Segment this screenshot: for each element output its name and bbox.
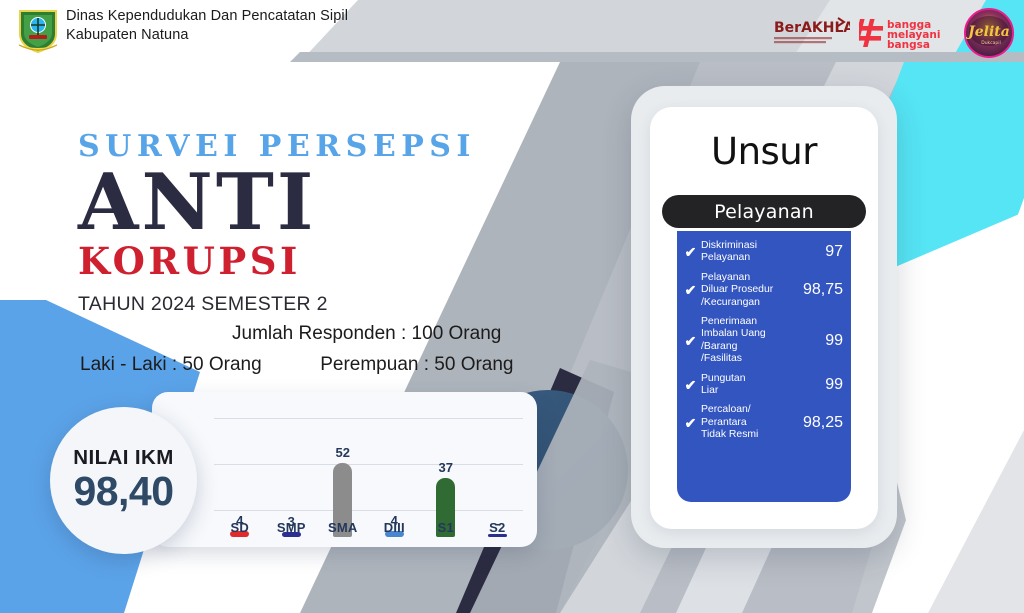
education-bar-chart-card: 4352437- SDSMPSMADIIIS1S2 xyxy=(152,392,537,547)
unsur-item-label: DiskriminasiPelayanan xyxy=(698,240,823,265)
org-name-line2: Kabupaten Natuna xyxy=(66,26,348,45)
unsur-item-label: PelayananDiluar Prosedur/Kecurangan xyxy=(698,272,801,309)
berakhlak-logo-icon: BerAKHLAK xyxy=(774,16,850,50)
title-anti: ANTI xyxy=(78,166,476,241)
unsur-panel-badge: Pelayanan xyxy=(662,195,866,228)
check-icon: ✔ xyxy=(683,378,698,392)
unsur-item-score: 98,75 xyxy=(801,281,843,299)
title-period: TAHUN 2024 SEMESTER 2 xyxy=(78,293,476,316)
unsur-list-item: ✔DiskriminasiPelayanan97 xyxy=(683,240,843,265)
unsur-item-score: 99 xyxy=(823,332,843,350)
unsur-list-item: ✔PungutanLiar99 xyxy=(683,373,843,398)
chart-bar-value: 52 xyxy=(336,445,350,460)
unsur-list-item: ✔Percaloan/PerantaraTidak Resmi98,25 xyxy=(683,404,843,441)
partner-logos: BerAKHLAK bangga melayani bangsa xyxy=(774,8,1014,58)
jelita-logo-icon: Jelita Dukcapil xyxy=(964,8,1014,58)
title-korupsi: KORUPSI xyxy=(78,243,476,280)
unsur-item-label: PungutanLiar xyxy=(698,373,823,398)
infographic-canvas: Dinas Kependudukan Dan Pencatatan Sipil … xyxy=(0,0,1024,613)
chart-x-label: S1 xyxy=(420,520,472,535)
check-icon: ✔ xyxy=(683,416,698,430)
respondent-male: Laki - Laki : 50 Orang xyxy=(80,354,262,375)
ikm-label: NILAI IKM xyxy=(73,446,173,470)
chart-plot-area: 4352437- SDSMPSMADIIIS1S2 xyxy=(214,404,523,537)
unsur-item-label: Percaloan/PerantaraTidak Resmi xyxy=(698,404,801,441)
unsur-list-item: ✔PelayananDiluar Prosedur/Kecurangan98,7… xyxy=(683,272,843,309)
ikm-score-badge: NILAI IKM 98,40 xyxy=(50,407,197,554)
chart-bar-value: 37 xyxy=(439,460,453,475)
check-icon: ✔ xyxy=(683,245,698,259)
main-title-block: SURVEI PERSEPSI ANTI KORUPSI TAHUN 2024 … xyxy=(78,132,476,316)
ikm-value: 98,40 xyxy=(73,468,173,515)
chart-x-axis-labels: SDSMPSMADIIIS1S2 xyxy=(214,520,523,535)
chart-x-label: SMP xyxy=(266,520,318,535)
respondent-total: Jumlah Responden : 100 Orang xyxy=(232,323,501,345)
unsur-list-item: ✔PenerimaanImbalan Uang/Barang/Fasilitas… xyxy=(683,316,843,366)
org-name-line1: Dinas Kependudukan Dan Pencatatan Sipil xyxy=(66,7,348,26)
svg-text:BerAKHLAK: BerAKHLAK xyxy=(774,20,850,36)
svg-text:bangsa: bangsa xyxy=(887,39,930,51)
page-header: Dinas Kependudukan Dan Pencatatan Sipil … xyxy=(0,0,1024,62)
unsur-items-list: ✔DiskriminasiPelayanan97✔PelayananDiluar… xyxy=(677,231,851,502)
chart-x-label: DIII xyxy=(369,520,421,535)
gridline xyxy=(214,418,523,419)
unsur-item-score: 97 xyxy=(823,243,843,261)
chart-x-label: SMA xyxy=(317,520,369,535)
unsur-item-score: 98,25 xyxy=(801,414,843,432)
bangga-melayani-bangsa-logo-icon: bangga melayani bangsa xyxy=(859,15,955,51)
respondent-gender-row: Laki - Laki : 50 Orang Perempuan : 50 Or… xyxy=(80,354,514,376)
unsur-panel-title: Unsur xyxy=(650,130,878,173)
respondent-female: Perempuan : 50 Orang xyxy=(320,354,513,375)
natuna-regency-emblem-icon xyxy=(16,8,60,54)
check-icon: ✔ xyxy=(683,334,698,348)
chart-x-label: S2 xyxy=(472,520,524,535)
svg-text:Jelita: Jelita xyxy=(965,24,1010,40)
unsur-item-label: PenerimaanImbalan Uang/Barang/Fasilitas xyxy=(698,316,823,366)
chart-x-label: SD xyxy=(214,520,266,535)
check-icon: ✔ xyxy=(683,283,698,297)
org-name: Dinas Kependudukan Dan Pencatatan Sipil … xyxy=(66,7,348,45)
unsur-item-score: 99 xyxy=(823,376,843,394)
svg-text:Dukcapil: Dukcapil xyxy=(981,40,1001,46)
